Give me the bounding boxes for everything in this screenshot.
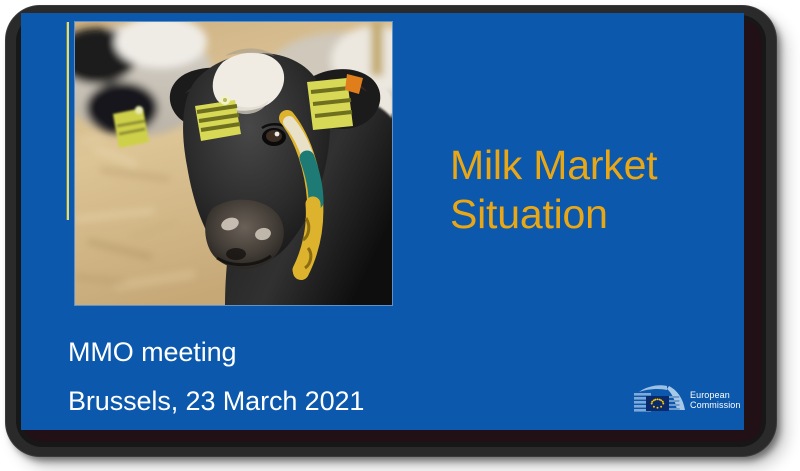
holstein-cow-photo [75,22,392,305]
slide-screenshot: Milk Market Situation MMO meeting Brusse… [0,0,800,471]
presentation-slide: Milk Market Situation MMO meeting Brusse… [21,13,744,430]
ec-wordmark-line-2: Commission [690,400,741,411]
european-commission-wordmark: European Commission [690,390,741,411]
slide-subtitle-line-1: MMO meeting [68,328,364,377]
slide-title-line-1: Milk Market [450,141,725,190]
european-commission-logo: European Commission [633,382,744,418]
ec-wordmark-line-1: European [690,390,741,401]
berlaymont-emblem-icon [633,384,687,416]
slide-title: Milk Market Situation [450,141,725,239]
slide-subtitle: MMO meeting Brussels, 23 March 2021 [68,328,364,426]
vertical-accent-rule [66,22,69,220]
slide-subtitle-line-2: Brussels, 23 March 2021 [68,377,364,426]
slide-title-line-2: Situation [450,190,725,239]
